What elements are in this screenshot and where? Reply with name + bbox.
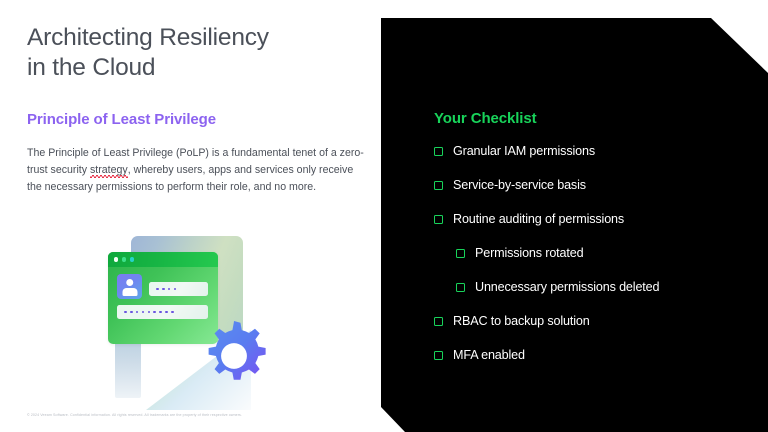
avatar-head-shape	[126, 279, 134, 287]
checkbox-icon[interactable]	[434, 351, 443, 360]
checklist-item-label: Permissions rotated	[475, 247, 583, 260]
window-dot-icon	[114, 257, 118, 261]
password-dot-icon	[156, 288, 159, 291]
user-avatar-icon	[117, 274, 142, 299]
checklist-item[interactable]: Granular IAM permissions	[434, 145, 754, 179]
slide-canvas: Architecting Resiliency in the Cloud Pri…	[0, 0, 768, 432]
window-dot-icon	[122, 257, 126, 261]
checklist-item-label: RBAC to backup solution	[453, 315, 590, 328]
page-title: Architecting Resiliency in the Cloud	[27, 23, 337, 84]
checklist-item[interactable]: Unnecessary permissions deleted	[456, 281, 754, 315]
checklist-panel: Your Checklist Granular IAM permissionsS…	[381, 18, 768, 432]
username-field-graphic	[149, 282, 208, 296]
password-dot-icon	[153, 311, 156, 314]
checklist-item-label: Granular IAM permissions	[453, 145, 595, 158]
password-dot-icon	[136, 311, 139, 314]
login-window-with-gear-illustration	[86, 230, 286, 400]
checklist-item[interactable]: MFA enabled	[434, 349, 754, 383]
avatar-body-shape	[122, 288, 137, 296]
password-dot-icon	[165, 311, 168, 314]
password-dot-icon	[148, 311, 151, 314]
password-dot-icon	[124, 311, 127, 314]
checklist-item-label: Service-by-service basis	[453, 179, 586, 192]
page-title-line-2: in the Cloud	[27, 53, 337, 83]
page-title-line-1: Architecting Resiliency	[27, 24, 269, 51]
password-dot-icon	[174, 288, 177, 291]
checklist-heading: Your Checklist	[434, 110, 537, 127]
checkbox-icon[interactable]	[434, 147, 443, 156]
left-content-column: Architecting Resiliency in the Cloud Pri…	[0, 0, 372, 432]
password-field-graphic	[117, 305, 208, 319]
checklist-item[interactable]: RBAC to backup solution	[434, 315, 754, 349]
checklist-item-label: MFA enabled	[453, 349, 525, 362]
password-dot-icon	[159, 311, 162, 314]
checklist-item[interactable]: Permissions rotated	[456, 247, 754, 281]
body-paragraph: The Principle of Least Privilege (PoLP) …	[27, 145, 367, 196]
checklist-item-label: Unnecessary permissions deleted	[475, 281, 659, 294]
window-titlebar	[108, 252, 218, 267]
checkbox-icon[interactable]	[434, 317, 443, 326]
gear-icon	[196, 318, 272, 394]
checkbox-icon[interactable]	[456, 249, 465, 258]
checkbox-icon[interactable]	[434, 215, 443, 224]
background-streak-shape	[115, 336, 141, 398]
checklist-item[interactable]: Service-by-service basis	[434, 179, 754, 213]
section-subheading: Principle of Least Privilege	[27, 111, 216, 128]
password-dot-icon	[168, 288, 171, 291]
password-dot-icon	[171, 311, 174, 314]
window-dot-icon	[130, 257, 134, 261]
checklist-item-label: Routine auditing of permissions	[453, 213, 624, 226]
checklist: Granular IAM permissionsService-by-servi…	[434, 145, 754, 383]
spellcheck-underlined-word: strategy	[90, 164, 128, 176]
checklist-item[interactable]: Routine auditing of permissions	[434, 213, 754, 247]
checkbox-icon[interactable]	[434, 181, 443, 190]
password-dot-icon	[142, 311, 145, 314]
copyright-footer: © 2024 Veeam Software. Confidential info…	[27, 413, 242, 417]
checkbox-icon[interactable]	[456, 283, 465, 292]
password-dot-icon	[130, 311, 133, 314]
password-dot-icon	[162, 288, 165, 291]
